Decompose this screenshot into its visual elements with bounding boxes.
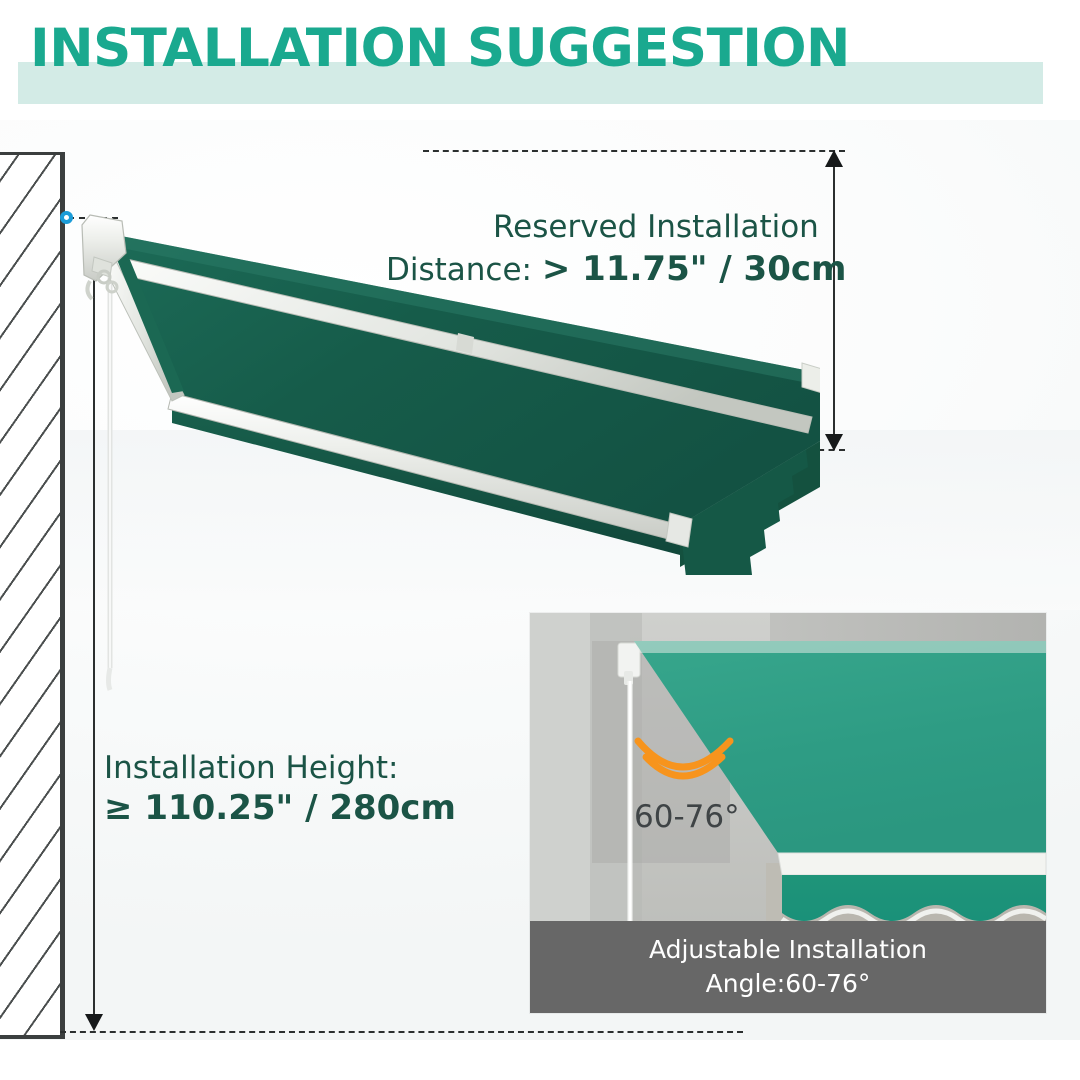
installation-height-label-line2: ≥ 110.25" / 280cm [104, 787, 456, 830]
top-reference-dashed-line [423, 150, 845, 152]
wall-hatch-pattern [0, 155, 60, 1035]
installation-height-label-line1: Installation Height: [104, 748, 398, 788]
reserved-distance-arrow-top [825, 150, 843, 167]
installation-suggestion-page: INSTALLATION SUGGESTION Reserved Install… [0, 0, 1080, 1080]
reserved-distance-arrow-bottom [825, 434, 843, 451]
inset-caption-bar: Adjustable Installation Angle:60-76° [530, 921, 1046, 1013]
adjustable-angle-inset: 60-76° Adjustable Installation Angle:60-… [530, 613, 1046, 1013]
installation-height-value: ≥ 110.25" / 280cm [104, 788, 456, 828]
wall-section [0, 152, 65, 1039]
awning-front-bar-endcap [666, 513, 692, 547]
page-title: INSTALLATION SUGGESTION [30, 18, 850, 80]
angle-annotation: 60-76° [634, 799, 740, 835]
awning-illustration [60, 195, 820, 575]
ground-dashed-line [60, 1031, 743, 1033]
installation-height-arrow-bottom [85, 1014, 103, 1031]
inset-caption-line2: Angle:60-76° [706, 967, 871, 1001]
inset-caption-line1: Adjustable Installation [649, 933, 927, 967]
reserved-distance-dimension-line [833, 152, 835, 450]
